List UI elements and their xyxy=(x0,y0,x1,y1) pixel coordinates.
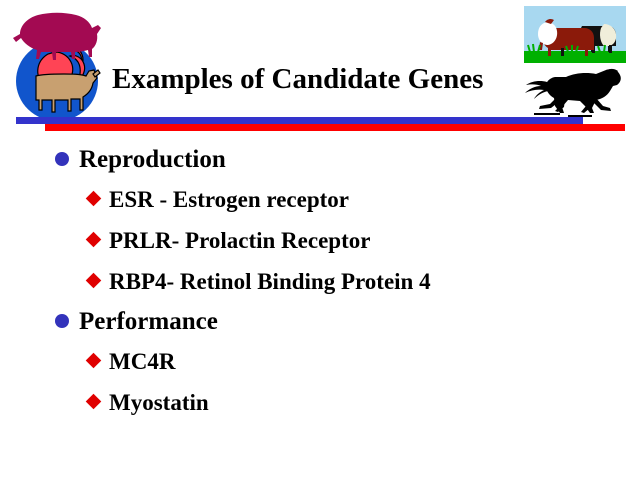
list-item-label: RBP4- Retinol Binding Protein 4 xyxy=(88,268,431,296)
list-item-label: PRLR- Prolactin Receptor xyxy=(88,227,370,255)
list-item-esr[interactable]: ESR - Estrogen receptor xyxy=(0,179,640,220)
list-item-myostatin[interactable]: Myostatin xyxy=(0,382,640,423)
divider-rule-red xyxy=(45,124,625,131)
divider-rule-blue xyxy=(16,117,583,124)
page-title: Examples of Candidate Genes xyxy=(112,62,532,96)
bullet-list: Reproduction ESR - Estrogen receptor PRL… xyxy=(0,140,640,423)
list-item-reproduction[interactable]: Reproduction xyxy=(0,140,640,179)
galloping-horse-icon xyxy=(520,68,630,118)
list-item-rbp4[interactable]: RBP4- Retinol Binding Protein 4 xyxy=(0,261,640,302)
livestock-logo-icon xyxy=(8,4,108,122)
list-item-label: ESR - Estrogen receptor xyxy=(88,186,349,214)
cattle-pasture-photo xyxy=(524,6,626,63)
list-item-label: Myostatin xyxy=(88,389,209,417)
slide-header: Examples of Candidate Genes xyxy=(0,0,640,136)
list-item-label: MC4R xyxy=(88,348,175,376)
slide-canvas: Examples of Candidate Genes Reproduction… xyxy=(0,0,640,480)
list-item-mc4r[interactable]: MC4R xyxy=(0,341,640,382)
list-item-label: Performance xyxy=(55,307,218,337)
list-item-prlr[interactable]: PRLR- Prolactin Receptor xyxy=(0,220,640,261)
list-item-label: Reproduction xyxy=(55,145,226,175)
disc-bullet-icon xyxy=(55,152,69,166)
list-item-performance[interactable]: Performance xyxy=(0,302,640,341)
disc-bullet-icon xyxy=(55,314,69,328)
